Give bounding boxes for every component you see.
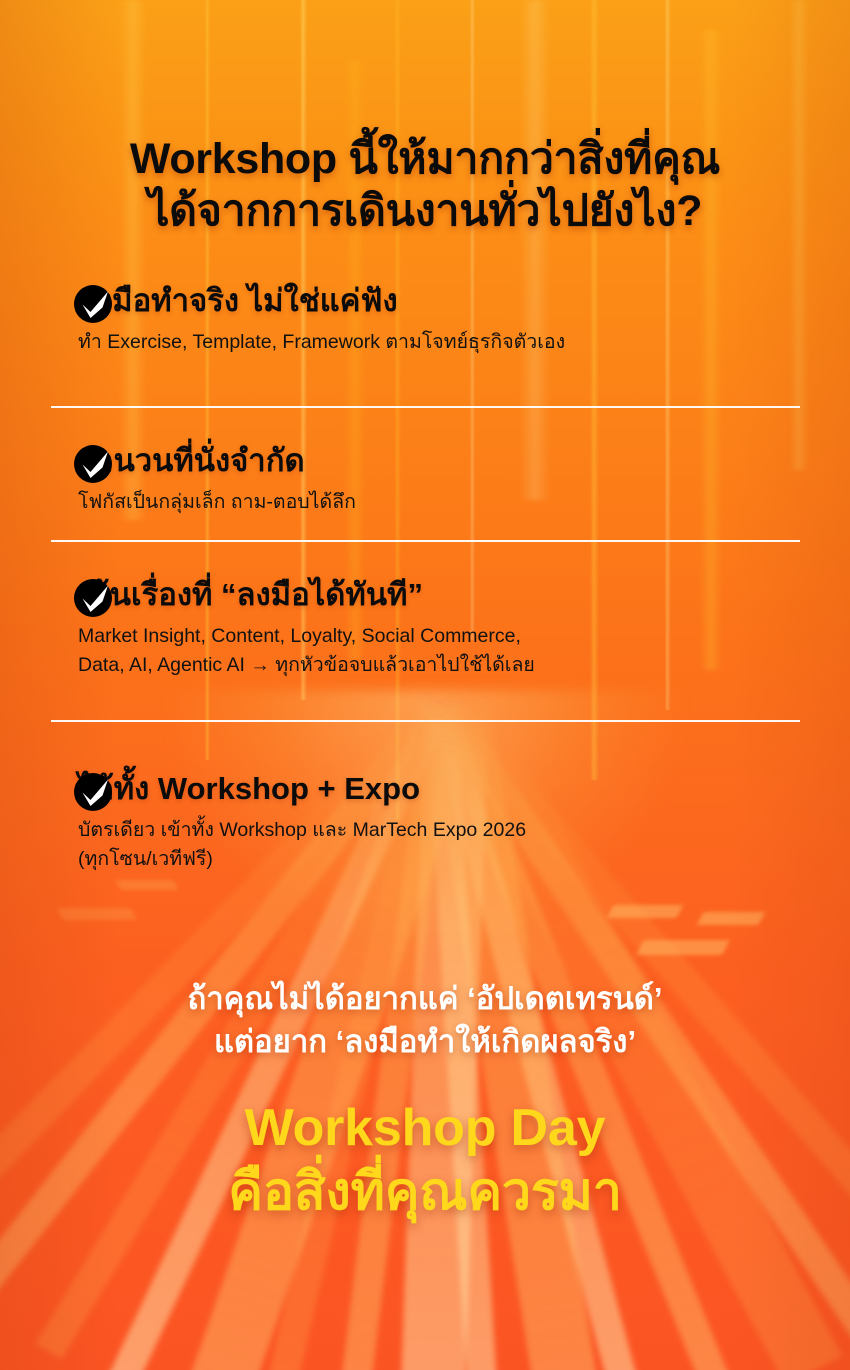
promo-poster: Workshop นี้ให้มากกว่าสิ่งที่คุณ ได้จากก… xyxy=(0,0,850,1370)
cta-text: Workshop Day คือสิ่งที่คุณควรมา xyxy=(0,1096,850,1225)
benefit-description-line-1: โฟกัสเป็นกลุ่มเล็ก ถาม-ตอบได้ลึก xyxy=(78,488,850,518)
divider xyxy=(51,540,800,542)
check-circle-icon xyxy=(74,772,114,812)
benefit-title-row: ลงมือทำจริง ไม่ใช่แค่ฟัง xyxy=(78,282,850,321)
cta-line-1: Workshop Day xyxy=(0,1096,850,1160)
benefit-description-line-2: (ทุกโซน/เวทีฟรี) xyxy=(78,845,850,875)
headline-line-2: ได้จากการเดินงานทั่วไปยังไง? xyxy=(0,185,850,237)
benefit-description-line-2: Data, AI, Agentic AI → ทุกหัวข้อจบแล้วเอ… xyxy=(78,651,850,681)
list-item: จำนวนที่นั่งจำกัด โฟกัสเป็นกลุ่มเล็ก ถาม… xyxy=(0,442,850,517)
benefit-title: ได้ทั้ง Workshop + Expo xyxy=(78,770,420,809)
benefit-description: ทำ Exercise, Template, Framework ตามโจทย… xyxy=(78,328,850,358)
headline-line-1: Workshop นี้ให้มากกว่าสิ่งที่คุณ xyxy=(0,133,850,185)
closing-statement: ถ้าคุณไม่ได้อยากแค่ ‘อัปเดตเทรนด์’ แต่อย… xyxy=(0,978,850,1064)
list-item: ลงมือทำจริง ไม่ใช่แค่ฟัง ทำ Exercise, Te… xyxy=(0,282,850,357)
benefit-title: ลงมือทำจริง ไม่ใช่แค่ฟัง xyxy=(78,282,398,321)
benefit-description: Market Insight, Content, Loyalty, Social… xyxy=(78,622,850,681)
cta-line-2: คือสิ่งที่คุณควรมา xyxy=(0,1160,850,1224)
benefit-description-line-1: ทำ Exercise, Template, Framework ตามโจทย… xyxy=(78,328,850,358)
benefit-description: บัตรเดียว เข้าทั้ง Workshop และ MarTech … xyxy=(78,816,850,875)
divider xyxy=(51,720,800,722)
list-item: ได้ทั้ง Workshop + Expo บัตรเดียว เข้าทั… xyxy=(0,770,850,875)
check-circle-icon xyxy=(74,578,114,618)
list-item: เน้นเรื่องที่ “ลงมือได้ทันที” Market Ins… xyxy=(0,576,850,681)
page-title: Workshop นี้ให้มากกว่าสิ่งที่คุณ ได้จากก… xyxy=(0,133,850,238)
benefit-description-line-1: Market Insight, Content, Loyalty, Social… xyxy=(78,622,850,652)
benefit-title-row: จำนวนที่นั่งจำกัด xyxy=(78,442,850,481)
divider xyxy=(51,406,800,408)
check-circle-icon xyxy=(74,444,114,484)
benefit-title-row: ได้ทั้ง Workshop + Expo xyxy=(78,770,850,809)
closing-line-2: แต่อยาก ‘ลงมือทำให้เกิดผลจริง’ xyxy=(0,1021,850,1064)
benefit-title: เน้นเรื่องที่ “ลงมือได้ทันที” xyxy=(78,576,423,615)
benefit-title-row: เน้นเรื่องที่ “ลงมือได้ทันที” xyxy=(78,576,850,615)
benefit-description: โฟกัสเป็นกลุ่มเล็ก ถาม-ตอบได้ลึก xyxy=(78,488,850,518)
closing-line-1: ถ้าคุณไม่ได้อยากแค่ ‘อัปเดตเทรนด์’ xyxy=(0,978,850,1021)
check-circle-icon xyxy=(74,284,114,324)
benefit-description-line-1: บัตรเดียว เข้าทั้ง Workshop และ MarTech … xyxy=(78,816,850,846)
